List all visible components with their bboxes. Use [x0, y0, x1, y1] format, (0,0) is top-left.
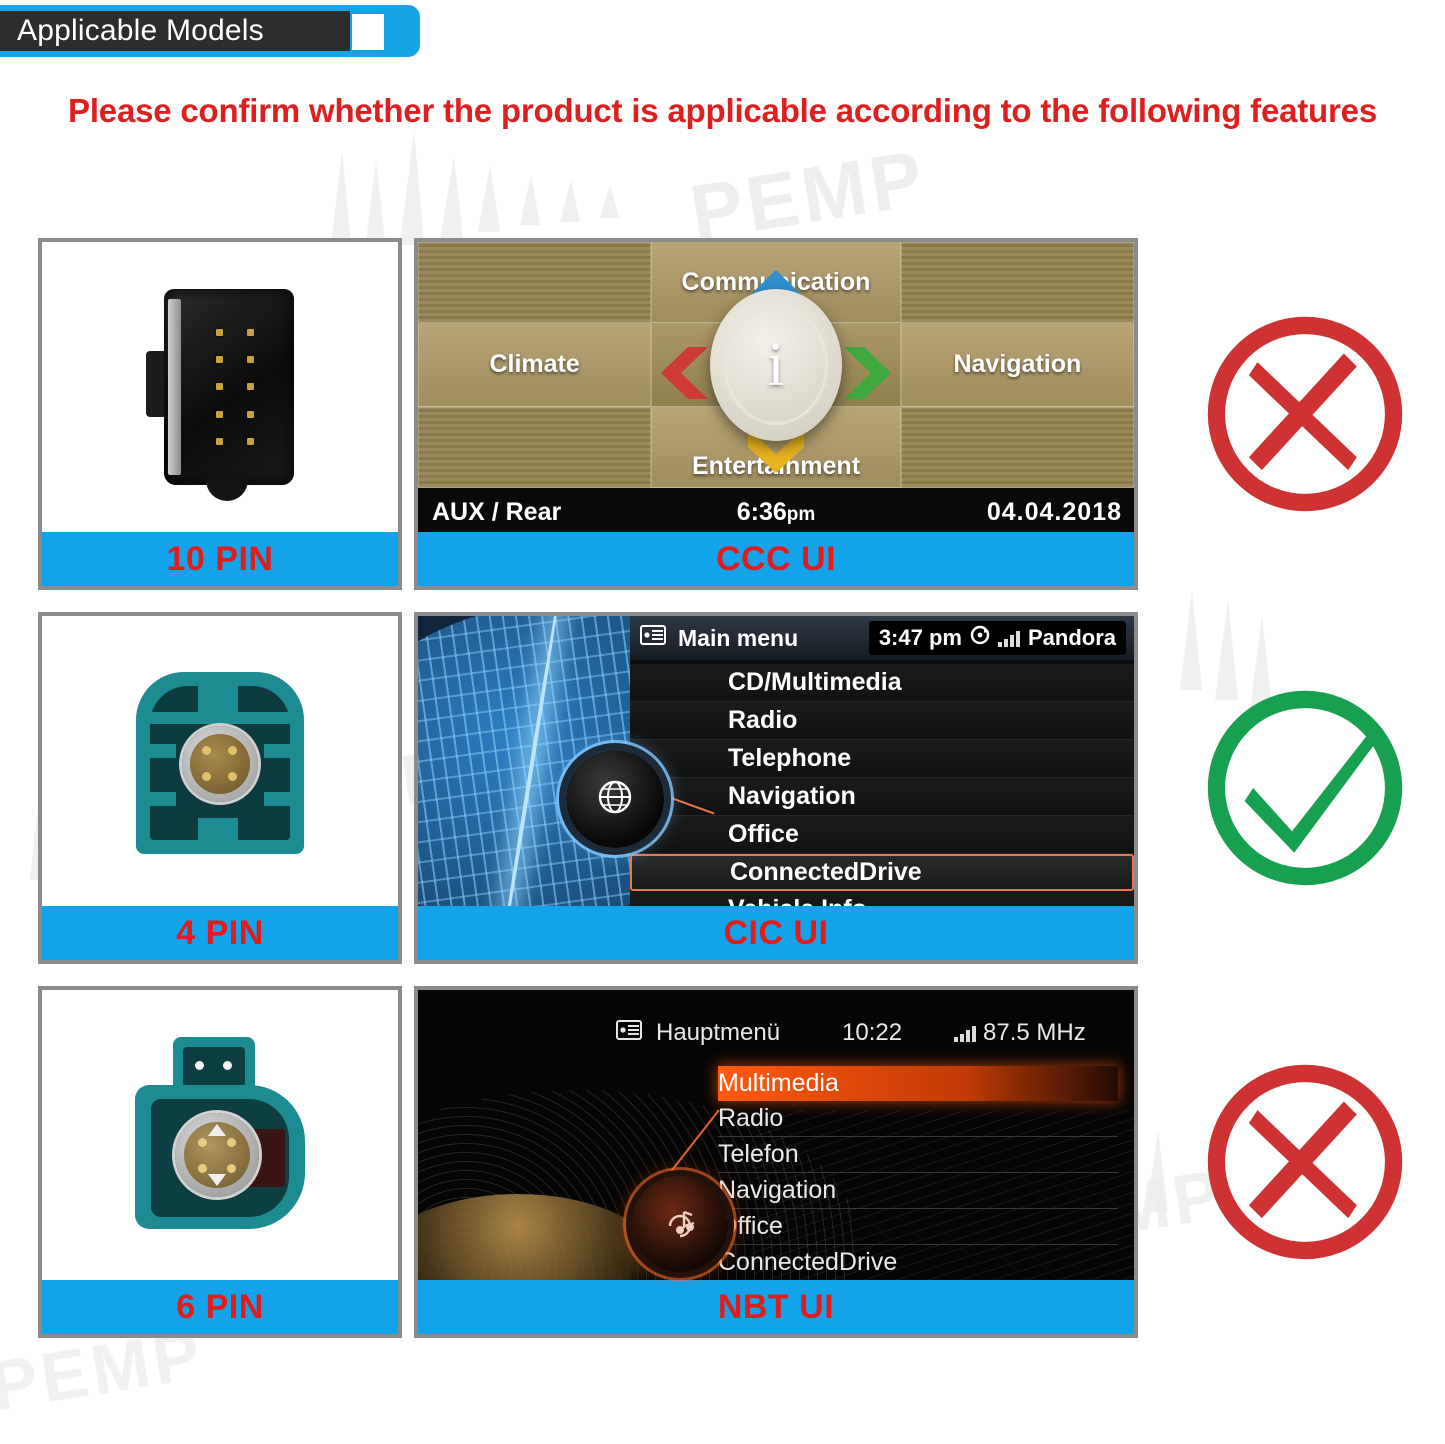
screen-caption: CCC UI	[418, 532, 1134, 586]
connector-caption: 10 PIN	[42, 532, 398, 586]
screen-caption-label: CCC UI	[716, 540, 836, 579]
cross-icon	[1197, 1054, 1413, 1270]
check-icon	[1197, 680, 1413, 896]
list-item[interactable]: Telefon	[718, 1137, 1118, 1173]
screen-card-ccc: Communication Climate Navigation Entert	[414, 238, 1138, 590]
connector-photo-6pin	[42, 990, 398, 1284]
nbt-title: Hauptmenü	[656, 1019, 780, 1047]
screen-card-cic: Main menu 3:47 pm Pandora C	[414, 612, 1138, 964]
screen-caption: NBT UI	[418, 1280, 1134, 1334]
signal-bars-icon	[954, 1025, 976, 1042]
menu-list-icon	[640, 624, 666, 652]
list-item[interactable]: Radio	[718, 1101, 1118, 1137]
cic-status-pill: 3:47 pm Pandora	[869, 621, 1126, 655]
nbt-time: 10:22	[842, 1019, 902, 1047]
screen-caption-label: CIC UI	[724, 914, 829, 953]
connector-photo-4pin	[42, 616, 398, 910]
status-badge-row2	[1185, 612, 1425, 964]
list-item[interactable]: CD/Multimedia	[630, 664, 1134, 702]
info-icon: i	[767, 334, 784, 396]
screen-caption-label: NBT UI	[718, 1288, 834, 1327]
nbt-menu-list: Multimedia Radio Telefon Navigation Offi…	[718, 1066, 1118, 1284]
list-item[interactable]: Office	[630, 816, 1134, 854]
table-row: 10 PIN Communication Climate	[0, 238, 1445, 612]
nbt-idrive-knob	[632, 1176, 728, 1272]
status-badge-row3	[1185, 986, 1425, 1338]
banner-dark-bar: Applicable Models	[0, 11, 350, 51]
cic-menu-list: CD/Multimedia Radio Telephone Navigation…	[630, 660, 1134, 910]
globe-icon	[593, 775, 637, 824]
cic-idrive-knob	[566, 750, 664, 848]
connector-card-4pin: 4 PIN	[38, 612, 402, 964]
nbt-header-bar: Hauptmenü 10:22 87.5 MHz	[616, 1012, 1114, 1054]
connector-caption: 4 PIN	[42, 906, 398, 960]
ccc-center-knob: i	[710, 289, 842, 441]
applicable-models-banner: Applicable Models	[0, 5, 420, 57]
connector-4pin-art	[136, 672, 304, 854]
connector-card-10pin: 10 PIN	[38, 238, 402, 590]
table-row: 4 PIN Main menu 3:47 pm	[0, 612, 1445, 986]
signal-bars-icon	[998, 630, 1020, 647]
list-item[interactable]: ConnectedDrive	[718, 1245, 1118, 1281]
ccc-time-value: 6:36	[737, 498, 787, 526]
nbt-ui-screenshot: Hauptmenü 10:22 87.5 MHz Multimedia Radi…	[418, 990, 1134, 1284]
cic-ui-screenshot: Main menu 3:47 pm Pandora C	[418, 616, 1134, 910]
list-item-selected[interactable]: ConnectedDrive	[630, 854, 1134, 891]
ccc-time: 6:36pm	[737, 498, 816, 527]
list-item-selected[interactable]: Multimedia	[718, 1066, 1118, 1101]
ccc-ui-screenshot: Communication Climate Navigation Entert	[418, 242, 1134, 536]
list-item[interactable]: Navigation	[718, 1173, 1118, 1209]
cic-title: Main menu	[678, 625, 798, 652]
ccc-source-label: AUX / Rear	[418, 498, 561, 527]
connector-caption: 6 PIN	[42, 1280, 398, 1334]
disc-icon	[970, 625, 990, 651]
connector-caption-label: 10 PIN	[167, 540, 274, 579]
connector-6pin-art	[131, 1037, 309, 1237]
connector-photo-10pin	[42, 242, 398, 536]
connector-caption-label: 6 PIN	[176, 1288, 264, 1327]
cic-source: Pandora	[1028, 625, 1116, 651]
list-item[interactable]: Radio	[630, 702, 1134, 740]
connector-10pin-art	[146, 289, 294, 489]
list-item[interactable]: Office	[718, 1209, 1118, 1245]
cic-header-bar: Main menu 3:47 pm Pandora	[630, 616, 1134, 660]
connector-card-6pin: 6 PIN	[38, 986, 402, 1338]
screen-card-nbt: Hauptmenü 10:22 87.5 MHz Multimedia Radi…	[414, 986, 1138, 1338]
page-headline: Please confirm whether the product is ap…	[0, 92, 1445, 130]
menu-list-icon	[616, 1019, 642, 1048]
applicability-grid: 10 PIN Communication Climate	[0, 238, 1445, 1360]
connector-caption-label: 4 PIN	[176, 914, 264, 953]
cross-icon	[1197, 306, 1413, 522]
ccc-meridiem: pm	[787, 504, 816, 525]
banner-title: Applicable Models	[0, 14, 264, 48]
status-badge-row1	[1185, 238, 1425, 590]
cic-time: 3:47 pm	[879, 625, 962, 651]
table-row: 6 PIN Hauptmenü 10:22	[0, 986, 1445, 1360]
ccc-status-bar: AUX / Rear 6:36pm 04.04.2018	[418, 488, 1134, 536]
music-note-icon	[658, 1200, 702, 1249]
list-item[interactable]: Telephone	[630, 740, 1134, 778]
nbt-frequency: 87.5 MHz	[983, 1019, 1086, 1047]
ccc-date: 04.04.2018	[987, 498, 1122, 527]
screen-caption: CIC UI	[418, 906, 1134, 960]
banner-white-chip	[352, 14, 384, 50]
